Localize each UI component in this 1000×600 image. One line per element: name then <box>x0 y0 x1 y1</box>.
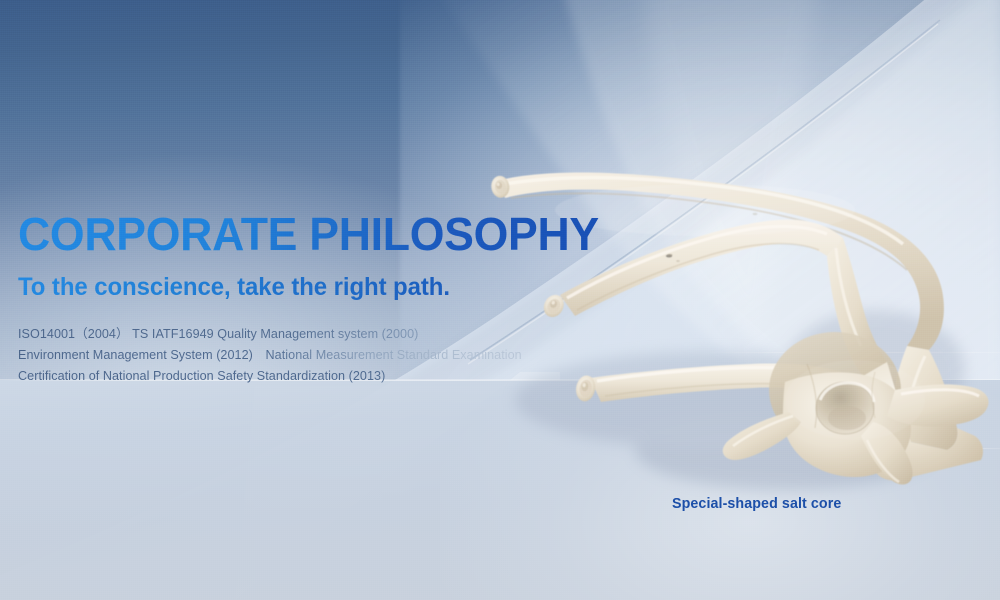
corporate-philosophy-banner: CORPORATE PHILOSOPHY To the conscience, … <box>0 0 1000 600</box>
texture-overlay <box>0 0 1000 600</box>
